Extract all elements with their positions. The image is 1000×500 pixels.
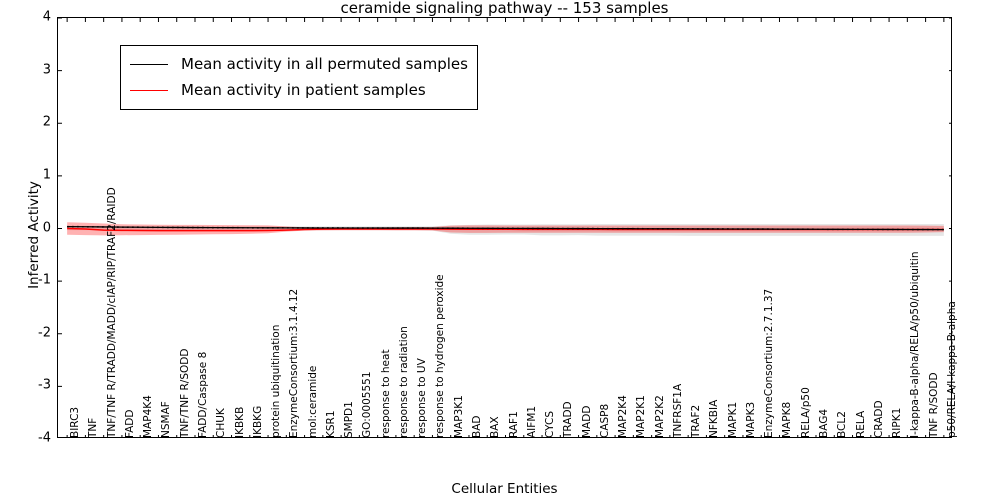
- x-tick-label: TNF R/SODD: [929, 372, 939, 438]
- legend-item-patient: Mean activity in patient samples: [130, 77, 468, 103]
- x-tick-label: NSMAF: [161, 401, 171, 438]
- x-tick-label: MAPK8: [782, 402, 792, 438]
- x-tick-label: response to radiation: [399, 326, 409, 438]
- x-tick-label: MAP2K4: [618, 395, 628, 438]
- x-tick-label: TRAF2: [691, 405, 701, 438]
- x-tick-label: CHUK: [216, 408, 226, 438]
- legend: Mean activity in all permuted samples Me…: [120, 45, 478, 110]
- x-tick-label: MADD: [582, 406, 592, 438]
- x-tick-label: NFKBIA: [709, 400, 719, 438]
- x-tick-label: IKBKG: [253, 406, 263, 438]
- x-tick-label: FADD: [125, 410, 135, 438]
- x-tick-label: BAD: [472, 416, 482, 438]
- x-tick-label: BCL2: [837, 411, 847, 438]
- x-tick-label: FADD/Caspase 8: [198, 352, 208, 438]
- x-tick-label: response to hydrogen peroxide: [435, 274, 445, 438]
- plot-area: Mean activity in all permuted samples Me…: [57, 17, 952, 438]
- x-tick-label: MAP3K1: [454, 395, 464, 438]
- x-tick-label: MAPK3: [746, 402, 756, 438]
- x-tick-label: BAG4: [819, 409, 829, 438]
- legend-label-patient: Mean activity in patient samples: [181, 81, 426, 99]
- legend-item-permuted: Mean activity in all permuted samples: [130, 51, 468, 77]
- x-tick-label: RIPK1: [892, 408, 902, 438]
- x-tick-label: response to heat: [381, 349, 391, 438]
- chart-title: ceramide signaling pathway -- 153 sample…: [57, 0, 952, 18]
- x-tick-label: TNF: [88, 418, 98, 438]
- figure-canvas: ceramide signaling pathway -- 153 sample…: [0, 0, 1000, 500]
- legend-swatch-permuted: [130, 64, 168, 65]
- x-tick-label: MAP2K2: [655, 395, 665, 438]
- x-tick-label: TNFRSF1A: [673, 384, 683, 438]
- x-tick-label: SMPD1: [344, 401, 354, 438]
- x-tick-label: TNF/TNF R/SODD: [180, 349, 190, 438]
- x-tick-label: MAPK1: [728, 402, 738, 438]
- x-tick-label: mol:ceramide: [308, 366, 318, 438]
- x-tick-label: RELA: [856, 411, 866, 438]
- x-tick-label: EnzymeConsortium:2.7.1.37: [764, 289, 774, 438]
- x-tick-label: EnzymeConsortium:3.1.4.12: [289, 289, 299, 438]
- x-tick-label: BIRC3: [70, 407, 80, 438]
- x-tick-label: CRADD: [874, 400, 884, 438]
- x-tick-label: MAP4K4: [143, 395, 153, 438]
- x-axis-label: Cellular Entities: [57, 481, 952, 497]
- y-tick-label: 4: [7, 10, 51, 25]
- x-tick-label: KSR1: [326, 410, 336, 438]
- x-tick-label: response to UV: [417, 358, 427, 438]
- x-tick-label: CYCS: [545, 411, 555, 438]
- x-tick-label: IKBKB: [235, 407, 245, 438]
- x-tick-label: TRADD: [563, 401, 573, 438]
- y-axis-label: Inferred Activity: [26, 25, 42, 445]
- x-tick-label: BAX: [490, 416, 500, 438]
- legend-swatch-patient: [130, 90, 168, 91]
- x-tick-label: CASP8: [600, 404, 610, 438]
- x-tick-label: TNF/TNF R/TRADD/MADD/cIAP/RIP/TRAF2/RAID…: [107, 187, 117, 438]
- x-tick-label: GO:0005551: [362, 371, 372, 438]
- x-tick-label: RELA/p50: [801, 387, 811, 438]
- x-tick-label: p50/RELA/I-kappa-B-alpha: [947, 301, 957, 438]
- legend-label-permuted: Mean activity in all permuted samples: [181, 55, 468, 73]
- x-tick-label: AIFM1: [527, 406, 537, 438]
- x-tick-label: RAF1: [509, 411, 519, 438]
- x-tick-label: protein ubiquitination: [271, 325, 281, 438]
- x-tick-label: I-kappa-B-alpha/RELA/p50/ubiquitin: [910, 252, 920, 439]
- x-tick-label: MAP2K1: [636, 395, 646, 438]
